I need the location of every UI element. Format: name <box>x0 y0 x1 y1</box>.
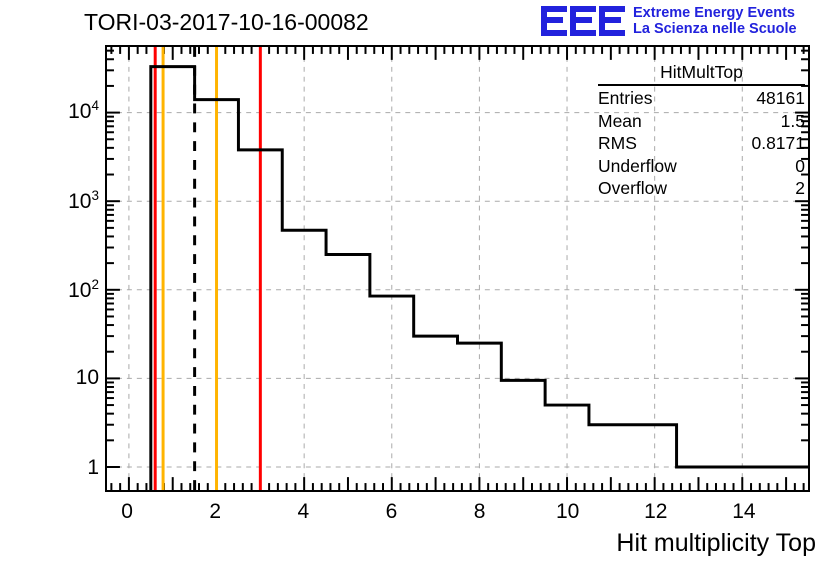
stats-value: 48161 <box>756 87 805 110</box>
eee-logo-mark <box>541 4 625 38</box>
x-tick-label: 6 <box>371 500 411 524</box>
stats-row: Entries48161 <box>598 87 805 110</box>
stats-value: 0.8171 <box>751 132 805 155</box>
y-tick-label: 1 <box>33 456 99 480</box>
page-title: TORI-03-2017-10-16-00082 <box>84 9 369 36</box>
stats-key: Entries <box>598 87 652 110</box>
eee-logo-line1: Extreme Energy Events <box>633 5 797 21</box>
x-tick-label: 14 <box>724 500 764 524</box>
marker-lines <box>155 47 260 490</box>
stats-value: 1.5 <box>781 110 805 133</box>
stats-key: Mean <box>598 110 642 133</box>
x-tick-label: 12 <box>636 500 676 524</box>
y-tick-label: 102 <box>33 277 99 303</box>
stats-key: RMS <box>598 132 637 155</box>
stats-value: 2 <box>795 177 805 200</box>
x-tick-label: 8 <box>460 500 500 524</box>
stats-key: Overflow <box>598 177 667 200</box>
stats-row: Underflow0 <box>598 155 805 178</box>
x-tick-label: 0 <box>107 500 147 524</box>
y-tick-label: 104 <box>33 98 99 124</box>
stats-row: Mean1.5 <box>598 110 805 133</box>
eee-logo: Extreme Energy Events La Scienza nelle S… <box>541 4 833 40</box>
x-tick-label: 2 <box>195 500 235 524</box>
eee-logo-line2: La Scienza nelle Scuole <box>633 21 797 37</box>
y-tick-label: 10 <box>33 366 99 390</box>
stats-title: HitMultTop <box>598 62 805 84</box>
stats-box: HitMultTop Entries48161Mean1.5RMS0.8171U… <box>598 62 805 200</box>
stats-key: Underflow <box>598 155 677 178</box>
stats-row: RMS0.8171 <box>598 132 805 155</box>
stats-value: 0 <box>795 155 805 178</box>
x-axis-title: Hit multiplicity Top <box>616 529 816 558</box>
x-tick-label: 10 <box>548 500 588 524</box>
stats-rows: Entries48161Mean1.5RMS0.8171Underflow0Ov… <box>598 87 805 200</box>
x-tick-label: 4 <box>283 500 323 524</box>
stats-divider <box>598 84 805 86</box>
stats-row: Overflow2 <box>598 177 805 200</box>
y-tick-label: 103 <box>33 188 99 214</box>
